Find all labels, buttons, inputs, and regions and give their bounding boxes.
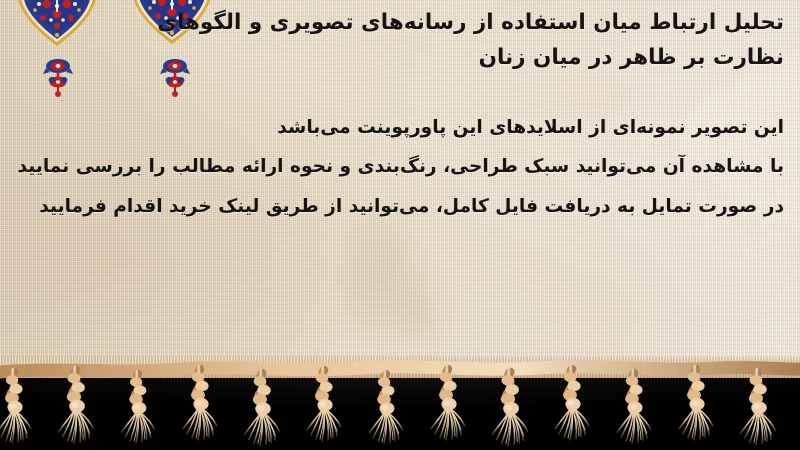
- carpet-fringe-tassel: [0, 372, 31, 443]
- carpet-fringe: [0, 360, 800, 450]
- fringe-top-cord: [0, 367, 800, 372]
- carpet-fringe-tassel: [431, 369, 465, 440]
- body-line-1: این تصویر نمونه‌ای از اسلایدهای این پاور…: [14, 108, 784, 147]
- carpet-fringe-tassel: [617, 373, 651, 443]
- title-line-2: نظارت بر ظاهر در میان زنان: [210, 41, 784, 76]
- carpet-fringe-tassel: [307, 370, 341, 441]
- carpet-fringe-tassel: [183, 369, 217, 440]
- carpet-fringe-tassel: [741, 372, 776, 444]
- carpet-fringe-tassel: [245, 373, 280, 445]
- carpet-fringe-tassel: [122, 374, 155, 443]
- body-line-3: در صورت تمایل به دریافت فایل کامل، می‌تو…: [14, 187, 784, 226]
- slide-canvas: تحلیل ارتباط میان استفاده از رسانه‌های ت…: [0, 0, 800, 450]
- carpet-fringe-tassel: [58, 370, 93, 443]
- slide-body: این تصویر نمونه‌ای از اسلایدهای این پاور…: [14, 108, 784, 226]
- body-line-2: با مشاهده آن می‌توانید سبک طراحی، رنگ‌بن…: [14, 147, 784, 186]
- slide-title: تحلیل ارتباط میان استفاده از رسانه‌های ت…: [210, 6, 784, 76]
- carpet-fringe-tassel: [369, 374, 402, 444]
- carpet-fringe-tassel: [679, 369, 713, 440]
- fringe-svg: [0, 360, 800, 450]
- title-line-1: تحلیل ارتباط میان استفاده از رسانه‌های ت…: [210, 6, 784, 41]
- carpet-fringe-tassel: [555, 369, 589, 440]
- carpet-fringe-tassel: [492, 372, 527, 446]
